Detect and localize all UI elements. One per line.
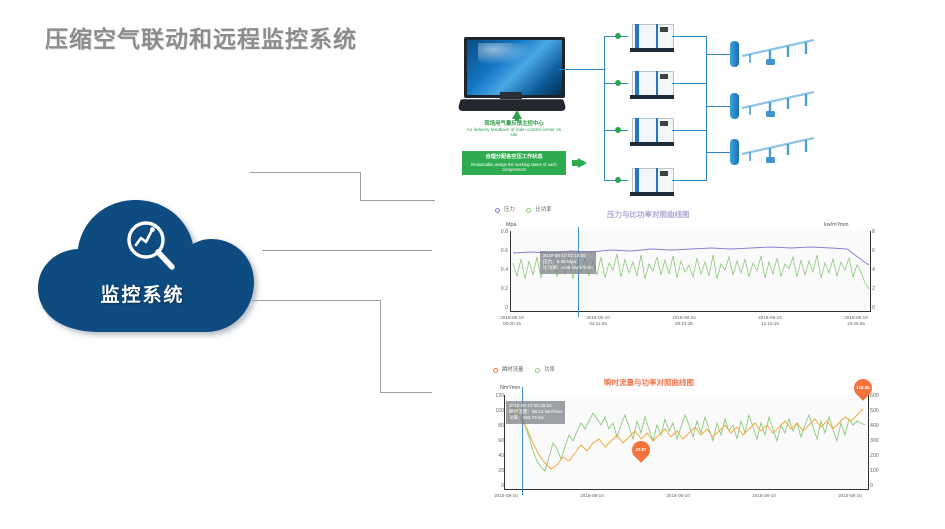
connector-line-1-vert	[360, 172, 361, 200]
main-control-center-label: 现场用气量反馈主控中心 Air delivery feedback of mai…	[464, 121, 564, 138]
chart2-ytick-3: 60	[484, 438, 504, 444]
status-node-4	[615, 177, 621, 183]
chart2-xtick-2: 2018-08-10	[650, 493, 706, 499]
chart2-marker-0[interactable]: 33.87	[628, 437, 653, 462]
chart2-marker-1[interactable]: 118.55	[850, 375, 875, 400]
chart1-xtick-0: 2018-08-10 00:00:15	[484, 315, 540, 327]
status-node-3	[615, 127, 621, 133]
chart2-y2tick-0: 600	[870, 393, 886, 399]
chart2-legend: 瞬时流量 功率	[490, 365, 562, 373]
chart2-xtick-1: 2018-08-10	[564, 493, 620, 499]
air-tank-3	[730, 139, 739, 165]
chart2-y2tick-1: 500	[870, 408, 886, 414]
chart1-y2tick-0: 8	[872, 229, 884, 235]
chart1-legend-item-0: 压力	[492, 207, 516, 213]
connector-line-3-vert	[380, 300, 381, 392]
chart2-title: 瞬时流量与功率对照曲线图	[604, 377, 694, 388]
chart2-ytick-1: 100	[484, 408, 504, 414]
wire-monitor-to-bus	[559, 69, 604, 70]
chart1-ytick-1: 0.6	[490, 248, 508, 254]
chart2-y2tick-2: 400	[870, 423, 886, 429]
chart2-xtick-3-date: 2018-08-10	[736, 493, 792, 499]
chart1-title: 压力与比功率对照曲线图	[607, 209, 690, 220]
status-node-2	[615, 80, 621, 86]
compressor-1	[632, 24, 672, 52]
chart1-y2tick-2: 4	[872, 267, 884, 273]
tank-feed-3	[706, 152, 732, 153]
chart2-y2tick-6: 0	[870, 483, 886, 489]
tank-feed-1	[706, 54, 732, 55]
connector-line-1	[250, 172, 360, 173]
chart1-y2tick-3: 2	[872, 286, 884, 292]
assign-status-box: 合理分配各空压工作状态 Reasonable assign the workin…	[462, 151, 566, 175]
chart1-right-axis	[870, 231, 871, 312]
chart1-tooltip-line2: 比功率：4.99 kw/m³/min	[543, 265, 593, 271]
monitor-stand	[500, 92, 522, 99]
main-control-center-label-en: Air delivery feedback of main control ce…	[464, 127, 564, 138]
chart2-ytick-5: 20	[484, 468, 504, 474]
chart1-legend-item-1: 比功率	[523, 207, 551, 213]
chart2-ytick-4: 40	[484, 453, 504, 459]
page-title: 压缩空气联动和远程监控系统	[45, 20, 357, 54]
chart2-ytick-2: 80	[484, 423, 504, 429]
connector-line-1-end	[360, 200, 435, 201]
chart1-legend-label-0: 压力	[504, 207, 515, 213]
compressor-2	[632, 71, 672, 99]
magnifier-chart-icon	[122, 218, 182, 276]
chart2-xtick-4: 2018-08-10	[822, 493, 878, 499]
outlet-wire-4	[672, 180, 706, 181]
chart2-marker-0-value: 33.87	[632, 441, 650, 459]
chart1-y-left-unit: Mpa	[506, 222, 517, 228]
chart1-xtick-4: 2018-08-10 16:46:55	[828, 315, 884, 327]
distribution-rail-3	[742, 130, 824, 164]
chart1-xtick-1-time: 04:11:55	[570, 321, 626, 327]
chart2-tooltip-line2: 功率：493.74 kw	[509, 415, 562, 421]
assign-status-box-cn: 合理分配各空压工作状态	[462, 154, 566, 161]
chart2-ytick-0: 120	[484, 393, 504, 399]
air-tank-2	[730, 93, 739, 119]
chart2-ytick-6: 0	[484, 483, 504, 489]
chart1-xtick-1: 2018-08-10 04:11:55	[570, 315, 626, 327]
chart1-y-right-unit: kw/m³/min	[824, 222, 849, 228]
compressor-4	[632, 168, 672, 196]
distribution-rail-1	[742, 32, 824, 66]
chart1-xtick-4-time: 16:46:55	[828, 321, 884, 327]
chart2-xtick-0-date: 2018-08-10	[478, 493, 534, 499]
chart1-ytick-3: 0.2	[490, 286, 508, 292]
chart1-tooltip: 2018-08-10 02:19:55 压力：0.68 Mpa 比功率：4.99…	[540, 251, 596, 274]
monitor-screen	[464, 37, 565, 98]
chart1-xtick-0-time: 00:00:15	[484, 321, 540, 327]
chart2-y-left-unit: Nm³/min	[500, 385, 520, 391]
outlet-wire-1	[672, 36, 706, 37]
green-arrow-icon	[578, 158, 587, 168]
compressor-3	[632, 118, 672, 146]
chart1-ytick-0: 0.8	[490, 229, 508, 235]
distribution-rail-2	[742, 84, 824, 118]
status-node-1	[615, 33, 621, 39]
chart1-ytick-4: 0	[490, 305, 508, 311]
chart2-legend-item-0: 瞬时流量	[490, 367, 525, 373]
chart2-xtick-2-date: 2018-08-10	[650, 493, 706, 499]
chart2-xtick-4-date: 2018-08-10	[822, 493, 878, 499]
chart2-marker-1-value: 118.55	[854, 379, 872, 397]
chart2-xtick-1-date: 2018-08-10	[564, 493, 620, 499]
chart2-panel: 瞬时流量 功率 瞬时流量与功率对照曲线图 Nm³/min 120 100 80 …	[432, 365, 932, 515]
chart2-y2tick-4: 200	[870, 453, 886, 459]
chart1-legend: 压力 比功率	[492, 205, 558, 213]
slide-root: 压缩空气联动和远程监控系统 监控系统	[0, 0, 945, 529]
chart1-xtick-2-time: 08:23:35	[656, 321, 712, 327]
chart2-y2tick-3: 300	[870, 438, 886, 444]
connector-line-3-end	[380, 392, 435, 393]
chart2-xtick-0: 2018-08-10	[478, 493, 534, 499]
chart1-legend-label-1: 比功率	[535, 207, 551, 213]
chart1-ytick-2: 0.4	[490, 267, 508, 273]
control-center-monitor	[464, 37, 559, 103]
chart1-y2tick-4: 0	[872, 305, 884, 311]
collection-bus-vertical	[706, 36, 707, 181]
bus-vertical-left	[604, 36, 605, 181]
monitoring-cloud[interactable]: 监控系统	[30, 192, 295, 340]
chart1-y2tick-1: 6	[872, 248, 884, 254]
tank-feed-2	[706, 106, 732, 107]
chart1-xtick-3-time: 12:15:15	[742, 321, 798, 327]
assign-status-box-en: Reasonable assign the working states of …	[471, 162, 556, 172]
chart2-legend-label-0: 瞬时流量	[502, 367, 524, 373]
system-diagram-panel: 现场用气量反馈主控中心 Air delivery feedback of mai…	[432, 24, 932, 199]
chart1-xtick-3: 2018-08-10 12:15:15	[742, 315, 798, 327]
cloud-label: 监控系统	[30, 280, 255, 307]
outlet-wire-3	[672, 130, 706, 131]
chart2-xtick-3: 2018-08-10	[736, 493, 792, 499]
chart2-right-axis	[868, 395, 869, 490]
outlet-wire-2	[672, 83, 706, 84]
chart1-panel: 压力 比功率 压力与比功率对照曲线图 Mpa kw/m³/min 0.8 0.6…	[432, 205, 932, 337]
chart1-xtick-2: 2018-08-10 08:23:35	[656, 315, 712, 327]
air-tank-1	[730, 41, 739, 67]
chart2-legend-item-1: 功率	[532, 367, 555, 373]
chart2-legend-label-1: 功率	[544, 367, 555, 373]
chart2-tooltip: 2018-08-10 00:38:55 瞬时流量：98.13 Nm³/min 功…	[506, 401, 565, 424]
chart2-y2tick-5: 100	[870, 468, 886, 474]
